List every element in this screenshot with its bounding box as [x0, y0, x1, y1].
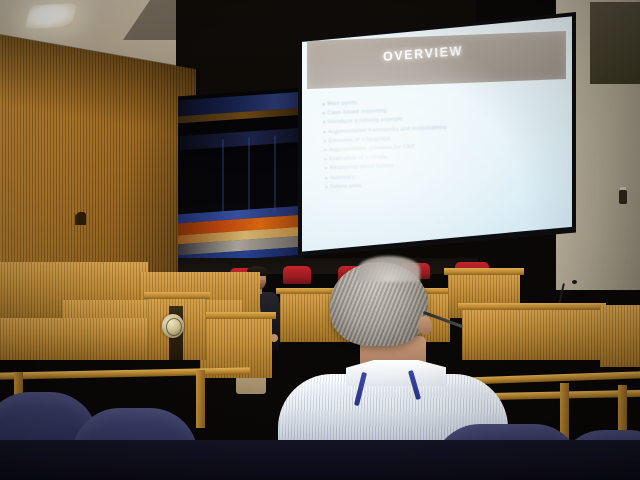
- audience-member-ear: [418, 316, 432, 335]
- institutional-seal-inner-ring: [166, 318, 182, 336]
- tapestry-warp-line: [248, 137, 250, 213]
- foreground-floor: [0, 440, 640, 480]
- railing-post: [196, 370, 205, 428]
- wall-tapestry-artwork: [178, 88, 304, 275]
- ceiling-light-panel: [24, 3, 77, 29]
- slide-bullet-list: Main points Case-based reasoning Introdu…: [322, 91, 563, 192]
- slide-title-bar: [307, 31, 566, 89]
- bench-far-right: [600, 305, 640, 367]
- microphone-head-icon: [572, 280, 577, 284]
- lecture-room-photo: OVERVIEW Main points Case-based reasonin…: [0, 0, 640, 480]
- wall-fixture-icon: [619, 190, 627, 204]
- wall-sensor-icon: [77, 212, 86, 225]
- projection-screen[interactable]: OVERVIEW Main points Case-based reasonin…: [302, 15, 572, 253]
- lectern-top: [144, 292, 210, 299]
- tapestry-warp-line: [222, 139, 224, 215]
- audience-member-hair-highlight: [358, 256, 420, 282]
- podium-top: [196, 312, 276, 319]
- bench-lower-left: [0, 318, 150, 360]
- tapestry-warp-line: [274, 136, 276, 212]
- right-wall-panel: [590, 2, 640, 84]
- railing-post: [560, 383, 569, 439]
